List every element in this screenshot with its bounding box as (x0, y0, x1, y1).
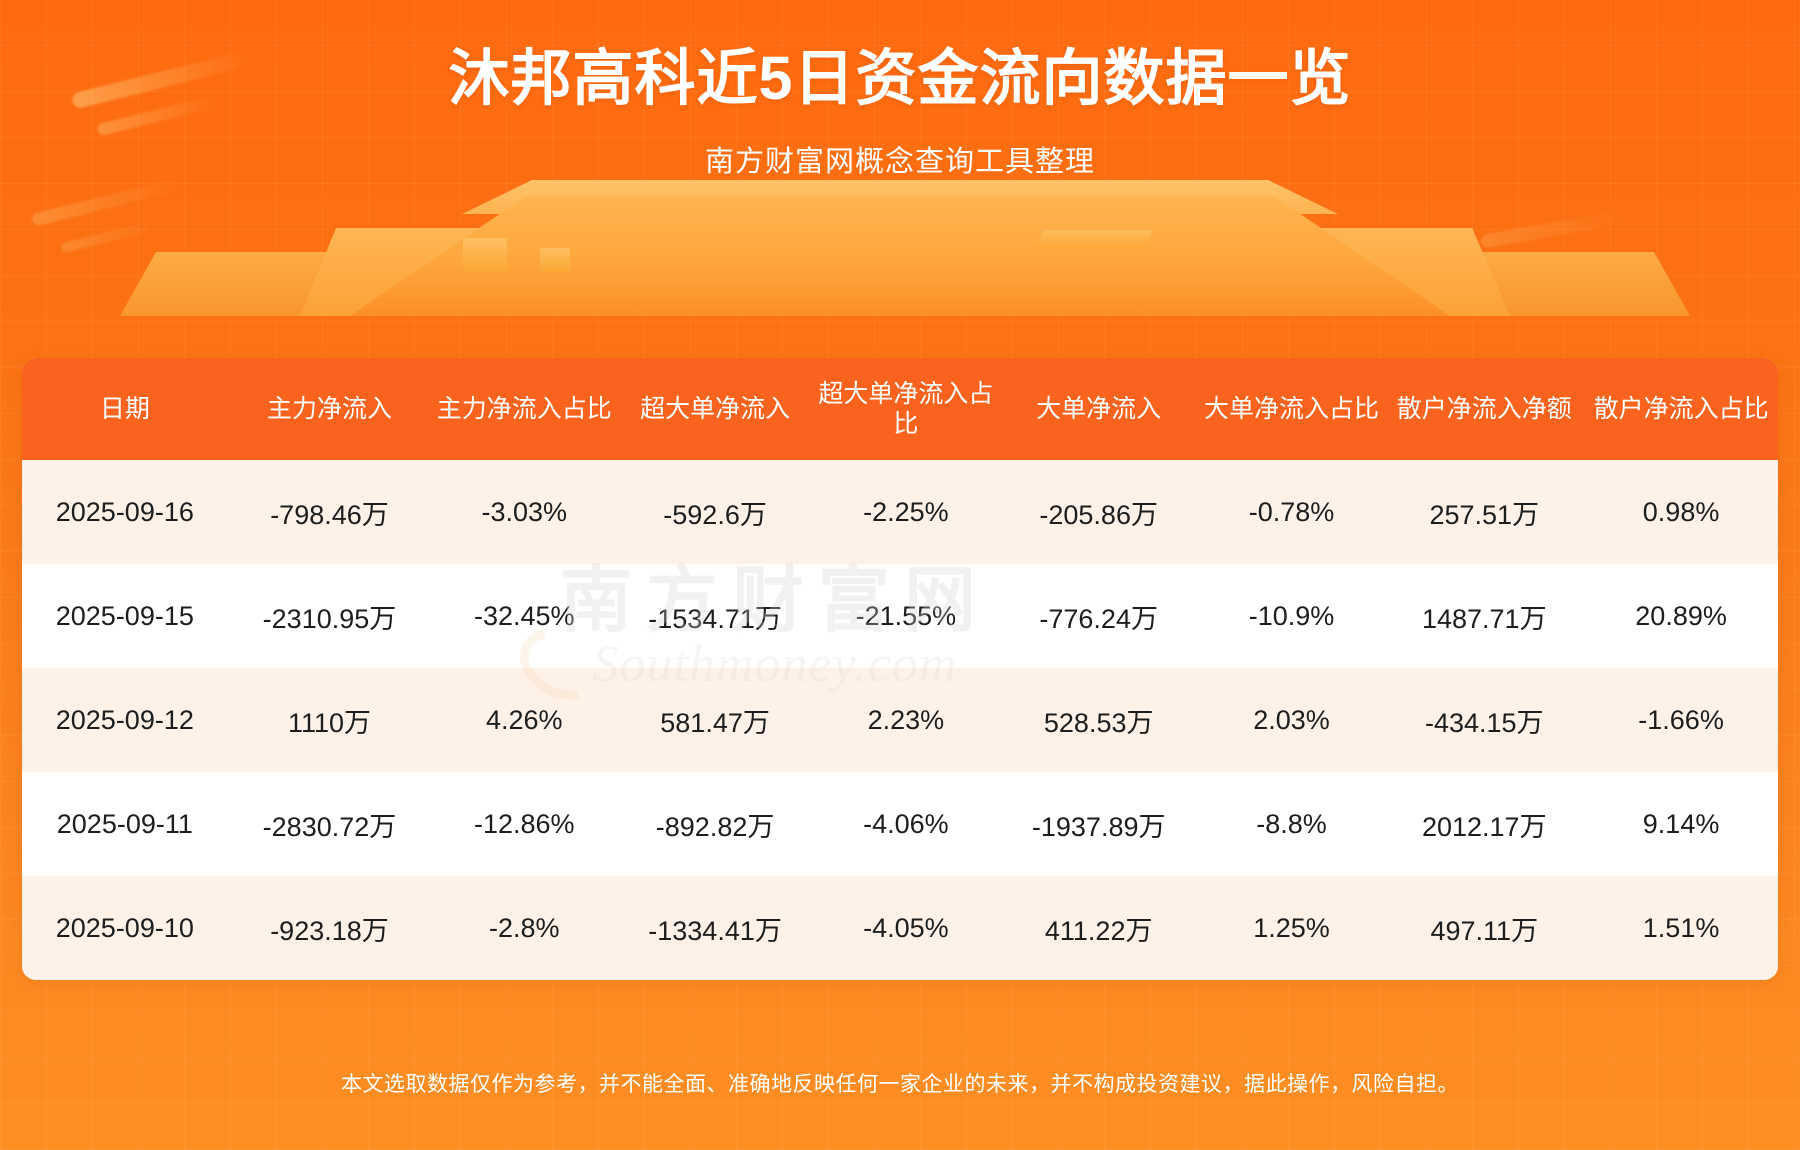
disclaimer-text: 本文选取数据仅作为参考，并不能全面、准确地反映任何一家企业的未来，并不构成投资建… (0, 1068, 1800, 1098)
cell-main-pct: -3.03% (431, 460, 617, 564)
cell-main-pct: 4.26% (431, 668, 617, 772)
cell-xl-pct: -21.55% (813, 564, 999, 668)
cell-retail-pct: 1.51% (1584, 876, 1778, 980)
column-header-date: 日期 (22, 358, 228, 460)
fund-flow-table: 日期 主力净流入 主力净流入占比 超大单净流入 超大单净流入占比 大单净流入 大… (22, 358, 1778, 980)
decorative-streak (1480, 209, 1630, 249)
cell-xl-net: 581.47万 (617, 668, 813, 772)
cell-main-pct: -2.8% (431, 876, 617, 980)
cell-large-net: -776.24万 (999, 564, 1199, 668)
table-row: 2025-09-16 -798.46万 -3.03% -592.6万 -2.25… (22, 460, 1778, 564)
podium-block-left (120, 252, 420, 316)
cell-retail-pct: 20.89% (1584, 564, 1778, 668)
decorative-streak (31, 178, 180, 227)
cell-xl-net: -1534.71万 (617, 564, 813, 668)
cell-retail-net: -434.15万 (1384, 668, 1584, 772)
page-title: 沐邦高科近5日资金流向数据一览 (0, 44, 1800, 112)
column-header-xl-pct: 超大单净流入占比 (813, 358, 999, 460)
cell-date: 2025-09-11 (22, 772, 228, 876)
cell-large-net: 528.53万 (999, 668, 1199, 772)
table-row: 2025-09-11 -2830.72万 -12.86% -892.82万 -4… (22, 772, 1778, 876)
cell-xl-net: -1334.41万 (617, 876, 813, 980)
cell-large-pct: -8.8% (1199, 772, 1385, 876)
cell-main-net: -2310.95万 (228, 564, 432, 668)
cell-retail-net: 1487.71万 (1384, 564, 1584, 668)
cell-main-net: -923.18万 (228, 876, 432, 980)
cell-xl-net: -592.6万 (617, 460, 813, 564)
table-row: 2025-09-10 -923.18万 -2.8% -1334.41万 -4.0… (22, 876, 1778, 980)
cell-large-net: 411.22万 (999, 876, 1199, 980)
cell-retail-pct: 9.14% (1584, 772, 1778, 876)
cell-main-pct: -32.45% (431, 564, 617, 668)
cell-large-net: -205.86万 (999, 460, 1199, 564)
column-header-main-pct: 主力净流入占比 (431, 358, 617, 460)
column-header-retail-pct: 散户净流入占比 (1584, 358, 1778, 460)
cell-large-pct: 1.25% (1199, 876, 1385, 980)
cell-retail-net: 497.11万 (1384, 876, 1584, 980)
decorative-streak (60, 221, 155, 254)
data-table-card: 日期 主力净流入 主力净流入占比 超大单净流入 超大单净流入占比 大单净流入 大… (22, 358, 1778, 980)
cell-retail-net: 2012.17万 (1384, 772, 1584, 876)
cell-main-net: 1110万 (228, 668, 432, 772)
column-header-large-pct: 大单净流入占比 (1199, 358, 1385, 460)
cell-large-pct: 2.03% (1199, 668, 1385, 772)
cell-large-net: -1937.89万 (999, 772, 1199, 876)
cell-date: 2025-09-16 (22, 460, 228, 564)
podium-highlight (1037, 230, 1153, 248)
cell-date: 2025-09-12 (22, 668, 228, 772)
cell-large-pct: -0.78% (1199, 460, 1385, 564)
table-row: 2025-09-15 -2310.95万 -32.45% -1534.71万 -… (22, 564, 1778, 668)
cell-main-net: -2830.72万 (228, 772, 432, 876)
column-header-retail-net: 散户净流入净额 (1384, 358, 1584, 460)
cell-xl-net: -892.82万 (617, 772, 813, 876)
cell-date: 2025-09-10 (22, 876, 228, 980)
cell-retail-pct: -1.66% (1584, 668, 1778, 772)
podium-nub (463, 238, 507, 272)
table-row: 2025-09-12 1110万 4.26% 581.47万 2.23% 528… (22, 668, 1778, 772)
podium-nub (540, 248, 570, 272)
cell-xl-pct: -4.06% (813, 772, 999, 876)
column-header-main-net: 主力净流入 (228, 358, 432, 460)
table-body: 2025-09-16 -798.46万 -3.03% -592.6万 -2.25… (22, 460, 1778, 980)
decorative-streak (1560, 253, 1670, 283)
podium-block-right (1390, 252, 1690, 316)
column-header-xl-net: 超大单净流入 (617, 358, 813, 460)
table-header: 日期 主力净流入 主力净流入占比 超大单净流入 超大单净流入占比 大单净流入 大… (22, 358, 1778, 460)
podium-block-right-inner (1300, 228, 1510, 316)
infographic-page: 沐邦高科近5日资金流向数据一览 南方财富网概念查询工具整理 日期 主力净流入 主… (0, 0, 1800, 1150)
column-header-large-net: 大单净流入 (999, 358, 1199, 460)
podium-block-left-inner (300, 228, 500, 316)
cell-main-net: -798.46万 (228, 460, 432, 564)
podium-block-center (350, 196, 1450, 316)
cell-xl-pct: -2.25% (813, 460, 999, 564)
cell-main-pct: -12.86% (431, 772, 617, 876)
cell-retail-pct: 0.98% (1584, 460, 1778, 564)
cell-xl-pct: 2.23% (813, 668, 999, 772)
cell-date: 2025-09-15 (22, 564, 228, 668)
podium-block-center-top (462, 180, 1338, 214)
cell-large-pct: -10.9% (1199, 564, 1385, 668)
page-header: 沐邦高科近5日资金流向数据一览 南方财富网概念查询工具整理 (0, 0, 1800, 180)
table-header-row: 日期 主力净流入 主力净流入占比 超大单净流入 超大单净流入占比 大单净流入 大… (22, 358, 1778, 460)
cell-retail-net: 257.51万 (1384, 460, 1584, 564)
cell-xl-pct: -4.05% (813, 876, 999, 980)
page-subtitle: 南方财富网概念查询工具整理 (0, 138, 1800, 180)
